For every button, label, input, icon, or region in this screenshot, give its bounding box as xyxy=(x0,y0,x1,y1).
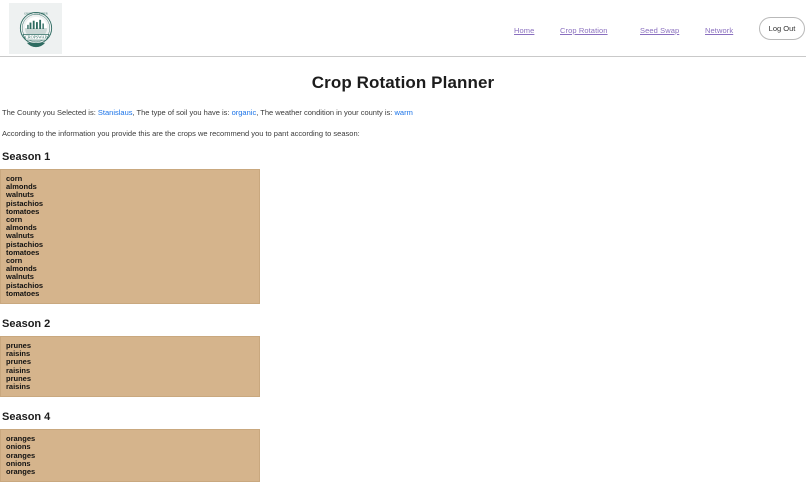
selected-weather-value: warm xyxy=(394,108,412,117)
site-header: CROPSWAP GROW TOGETHER Home Crop Rotatio… xyxy=(0,0,806,57)
crop-item: tomatoes xyxy=(6,249,259,257)
season-heading-2: Season 2 xyxy=(0,318,806,330)
crop-item: raisins xyxy=(6,350,259,358)
log-out-button[interactable]: Log Out xyxy=(759,17,805,40)
svg-text:CROPSWAP: CROPSWAP xyxy=(25,34,47,39)
nav-link-home[interactable]: Home xyxy=(514,26,534,35)
nav-link-network[interactable]: Network xyxy=(705,26,733,35)
season-heading-4: Season 4 xyxy=(0,411,806,423)
crop-item: walnuts xyxy=(6,191,259,199)
crop-item: tomatoes xyxy=(6,290,259,298)
crop-item: almonds xyxy=(6,224,259,232)
crop-list-season-1: corn almonds walnuts pistachios tomatoes… xyxy=(0,169,260,304)
crop-item: pistachios xyxy=(6,241,259,249)
weather-prefix-text: , The weather condition in your county i… xyxy=(256,108,394,117)
crop-item: pistachios xyxy=(6,282,259,290)
recommendation-intro: According to the information you provide… xyxy=(0,130,806,138)
crop-item: almonds xyxy=(6,265,259,273)
main-content: Crop Rotation Planner The County you Sel… xyxy=(0,57,806,482)
crop-item: oranges xyxy=(6,452,259,460)
crop-item: onions xyxy=(6,443,259,451)
nav-link-seed-swap[interactable]: Seed Swap xyxy=(640,26,679,35)
season-heading-1: Season 1 xyxy=(0,151,806,163)
selection-summary: The County you Selected is: Stanislaus, … xyxy=(0,109,806,117)
crop-item: corn xyxy=(6,175,259,183)
main-navigation: Home Crop Rotation Seed Swap Network Log… xyxy=(495,0,806,57)
selected-soil-value: organic xyxy=(232,108,257,117)
crop-item: pistachios xyxy=(6,200,259,208)
county-prefix-text: The County you Selected is: xyxy=(2,108,98,117)
soil-prefix-text: , The type of soil you have is: xyxy=(133,108,232,117)
crop-item: raisins xyxy=(6,367,259,375)
nav-link-crop-rotation[interactable]: Crop Rotation xyxy=(560,26,608,35)
crop-item: onions xyxy=(6,460,259,468)
crop-item: prunes xyxy=(6,358,259,366)
crop-item: corn xyxy=(6,257,259,265)
crop-item: prunes xyxy=(6,375,259,383)
logo[interactable]: CROPSWAP GROW TOGETHER xyxy=(9,3,62,54)
selected-county-value: Stanislaus xyxy=(98,108,133,117)
crop-item: almonds xyxy=(6,183,259,191)
crop-item: oranges xyxy=(6,468,259,476)
crop-list-season-4: oranges onions oranges onions oranges xyxy=(0,429,260,482)
svg-text:GROW TOGETHER: GROW TOGETHER xyxy=(24,12,48,15)
crop-item: tomatoes xyxy=(6,208,259,216)
crop-list-season-2: prunes raisins prunes raisins prunes rai… xyxy=(0,336,260,397)
crop-item: prunes xyxy=(6,342,259,350)
cropswap-badge-logo: CROPSWAP GROW TOGETHER xyxy=(13,6,59,52)
crop-item: oranges xyxy=(6,435,259,443)
crop-item: corn xyxy=(6,216,259,224)
crop-item: walnuts xyxy=(6,232,259,240)
crop-item: walnuts xyxy=(6,273,259,281)
crop-item: raisins xyxy=(6,383,259,391)
page-title: Crop Rotation Planner xyxy=(0,57,806,93)
